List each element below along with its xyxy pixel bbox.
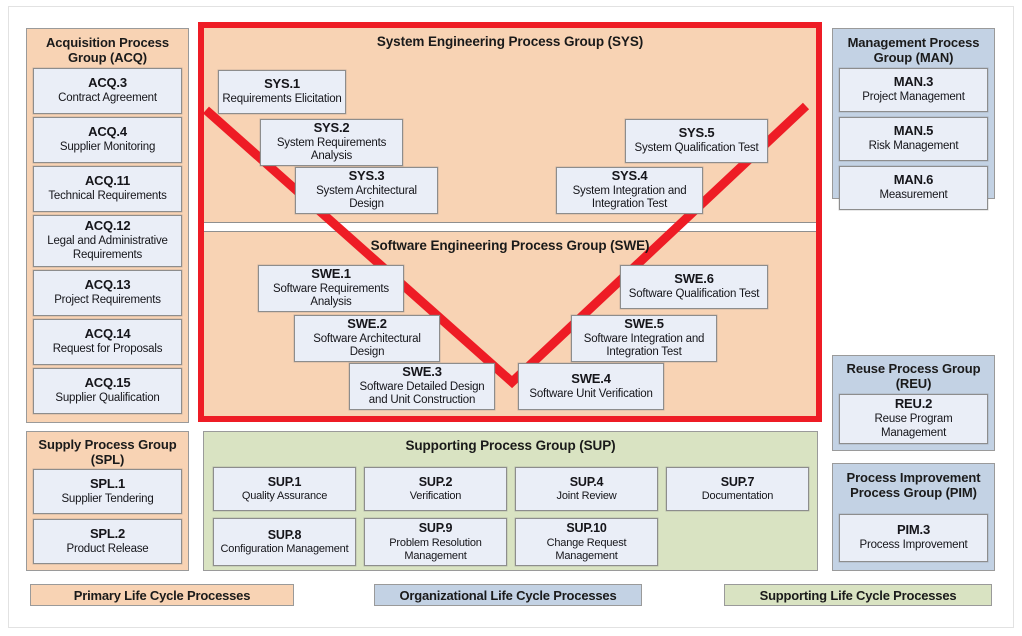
process-code: ACQ.15 [85,376,131,391]
process-code: SYS.3 [349,169,385,184]
process-box-sys-2[interactable]: SYS.2 System Requirements Analysis [260,119,403,166]
process-box-acq-14[interactable]: ACQ.14 Request for Proposals [33,319,182,365]
process-box-sup-7[interactable]: SUP.7 Documentation [666,467,809,511]
process-name: Legal and Administrative Requirements [37,235,178,262]
process-name: System Requirements Analysis [264,137,399,164]
diagram-canvas: Acquisition Process Group (ACQ) ACQ.3 Co… [0,0,1022,636]
process-name: Software Requirements Analysis [262,283,400,310]
process-code: SYS.5 [679,126,715,141]
process-name: Software Detailed Design and Unit Constr… [353,381,491,408]
group-spl-title-line2: (SPL) [27,452,188,467]
group-man-title-line2: Group (MAN) [833,50,994,65]
process-name: Software Qualification Test [629,288,760,302]
process-box-swe-6[interactable]: SWE.6 Software Qualification Test [620,265,768,309]
process-name: Verification [410,490,461,503]
group-acq-title-line1: Acquisition Process [27,35,188,50]
process-code: SUP.1 [268,475,302,489]
process-name: Risk Management [869,140,959,154]
process-box-sup-4[interactable]: SUP.4 Joint Review [515,467,658,511]
process-name: Software Unit Verification [529,388,652,402]
process-name: Contract Agreement [58,92,157,106]
process-name: System Architectural Design [299,185,434,212]
process-box-sys-5[interactable]: SYS.5 System Qualification Test [625,119,768,163]
process-name: Measurement [879,189,947,203]
process-name: Supplier Monitoring [60,141,155,155]
process-code: SYS.2 [314,121,350,136]
group-swe-title: Software Engineering Process Group (SWE) [204,238,816,254]
process-box-sys-4[interactable]: SYS.4 System Integration and Integration… [556,167,703,214]
process-name: Reuse Program Management [843,413,984,440]
process-code: SPL.2 [90,527,125,542]
group-reu-title-line2: (REU) [833,376,994,391]
group-sys-title: System Engineering Process Group (SYS) [204,34,816,50]
process-box-acq-3[interactable]: ACQ.3 Contract Agreement [33,68,182,114]
process-code: SWE.2 [347,317,386,332]
process-box-sup-1[interactable]: SUP.1 Quality Assurance [213,467,356,511]
process-code: MAN.3 [894,75,933,90]
process-code: SYS.1 [264,77,300,92]
legend-item-organizational: Organizational Life Cycle Processes [374,584,642,606]
process-code: SWE.3 [402,365,441,380]
process-box-sys-3[interactable]: SYS.3 System Architectural Design [295,167,438,214]
legend-label: Supporting Life Cycle Processes [760,588,957,603]
process-name: Project Management [862,91,965,105]
process-name: Technical Requirements [48,190,166,204]
process-name: Quality Assurance [242,490,327,503]
process-name: Software Integration and Integration Tes… [575,333,713,360]
process-code: SUP.2 [419,475,453,489]
process-box-pim-3[interactable]: PIM.3 Process Improvement [839,514,988,562]
process-name: Change Request Management [519,537,654,563]
process-box-sup-10[interactable]: SUP.10 Change Request Management [515,518,658,566]
group-spl-title-line1: Supply Process Group [27,437,188,452]
process-code: ACQ.11 [85,174,130,189]
process-code: SUP.9 [419,521,453,535]
process-box-sys-1[interactable]: SYS.1 Requirements Elicitation [218,70,346,114]
process-name: Joint Review [557,490,617,503]
group-pim-title-line1: Process Improvement [833,470,994,485]
process-name: Problem Resolution Management [368,537,503,563]
process-code: SUP.4 [570,475,604,489]
process-code: ACQ.14 [85,327,131,342]
process-box-spl-2[interactable]: SPL.2 Product Release [33,519,182,564]
process-code: SWE.5 [624,317,663,332]
process-name: Supplier Qualification [55,392,159,406]
process-code: ACQ.12 [85,219,131,234]
process-box-acq-4[interactable]: ACQ.4 Supplier Monitoring [33,117,182,163]
process-code: SWE.6 [674,272,713,287]
process-name: System Integration and Integration Test [560,185,699,212]
process-code: SUP.10 [566,521,606,535]
process-code: SUP.8 [268,528,302,542]
process-name: Software Architectural Design [298,333,436,360]
process-box-acq-12[interactable]: ACQ.12 Legal and Administrative Requirem… [33,215,182,267]
process-box-man-3[interactable]: MAN.3 Project Management [839,68,988,112]
legend-item-supporting: Supporting Life Cycle Processes [724,584,992,606]
process-box-man-6[interactable]: MAN.6 Measurement [839,166,988,210]
process-box-sup-9[interactable]: SUP.9 Problem Resolution Management [364,518,507,566]
process-box-sup-8[interactable]: SUP.8 Configuration Management [213,518,356,566]
legend-label: Organizational Life Cycle Processes [400,588,617,603]
process-name: Process Improvement [859,539,967,553]
process-box-acq-13[interactable]: ACQ.13 Project Requirements [33,270,182,316]
group-reu-title-line1: Reuse Process Group [833,361,994,376]
process-name: Product Release [66,543,148,557]
legend-item-primary: Primary Life Cycle Processes [30,584,294,606]
process-box-reu-2[interactable]: REU.2 Reuse Program Management [839,394,988,444]
process-code: SWE.1 [311,267,350,282]
process-code: ACQ.4 [88,125,127,140]
group-sup-title: Supporting Process Group (SUP) [204,432,817,454]
process-box-swe-3[interactable]: SWE.3 Software Detailed Design and Unit … [349,363,495,410]
process-box-swe-4[interactable]: SWE.4 Software Unit Verification [518,363,664,410]
process-box-sup-2[interactable]: SUP.2 Verification [364,467,507,511]
sys-swe-divider [204,222,816,232]
process-box-swe-5[interactable]: SWE.5 Software Integration and Integrati… [571,315,717,362]
process-box-spl-1[interactable]: SPL.1 Supplier Tendering [33,469,182,514]
process-code: MAN.5 [894,124,933,139]
process-name: Supplier Tendering [61,493,153,507]
process-name: Documentation [702,490,773,503]
group-man-title-line1: Management Process [833,35,994,50]
process-box-man-5[interactable]: MAN.5 Risk Management [839,117,988,161]
process-box-swe-2[interactable]: SWE.2 Software Architectural Design [294,315,440,362]
process-code: MAN.6 [894,173,933,188]
process-box-acq-15[interactable]: ACQ.15 Supplier Qualification [33,368,182,414]
group-acq-title-line2: Group (ACQ) [27,50,188,65]
process-code: ACQ.3 [88,76,127,91]
process-code: ACQ.13 [85,278,131,293]
process-box-swe-1[interactable]: SWE.1 Software Requirements Analysis [258,265,404,312]
process-code: SYS.4 [612,169,648,184]
process-name: Request for Proposals [53,343,163,357]
process-box-acq-11[interactable]: ACQ.11 Technical Requirements [33,166,182,212]
process-name: Requirements Elicitation [222,93,341,107]
group-pim-title-line2: Process Group (PIM) [833,485,994,500]
process-code: PIM.3 [897,523,930,538]
process-code: SPL.1 [90,477,125,492]
process-code: SUP.7 [721,475,755,489]
process-name: Configuration Management [221,543,349,556]
process-name: System Qualification Test [635,142,759,156]
legend-label: Primary Life Cycle Processes [74,588,251,603]
process-code: REU.2 [895,397,932,412]
process-name: Project Requirements [54,294,161,308]
process-code: SWE.4 [571,372,610,387]
